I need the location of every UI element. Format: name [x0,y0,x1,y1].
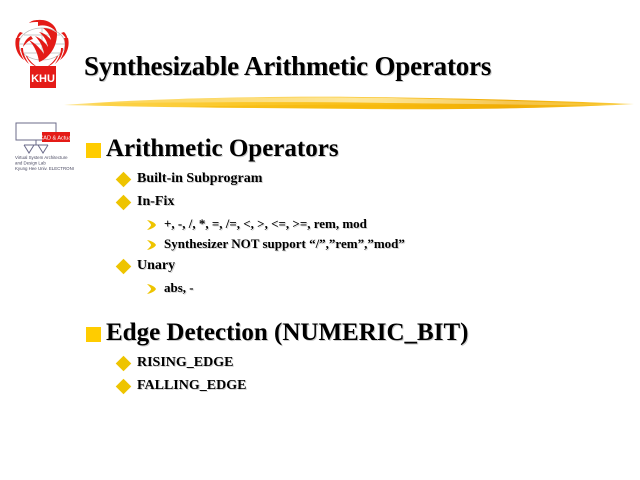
square-bullet-icon [86,143,101,158]
bullet-level2-rising-edge: RISING_EDGE [118,352,634,373]
svg-text:KHU: KHU [31,73,55,85]
level3-label: Synthesizer NOT support “/”,”rem”,”mod” [164,234,405,254]
lab-logo: CAD & Actual Virtual System Architecture… [12,120,74,172]
level1-label: Arithmetic Operators [106,134,339,164]
bullet-level1-edge-detection: Edge Detection (NUMERIC_BIT) [86,318,634,348]
bullet-level2-built-in-subprogram: Built-in Subprogram [118,168,634,189]
level3-label: abs, - [164,278,194,298]
bullet-level2-in-fix: In-Fix [118,191,634,212]
diamond-bullet-icon [116,194,132,210]
level2-label: Unary [137,255,175,276]
level2-label: FALLING_EDGE [137,375,246,396]
bullet-level3-operator-list: +, -, /, *, =, /=, <, >, <=, >=, rem, mo… [146,214,634,234]
level2-label: Built-in Subprogram [137,168,262,189]
lab-logo-caption-3: Kyung Hee Univ. ELECTRONICS [15,166,74,171]
lab-logo-badge-text: CAD & Actual [39,136,72,142]
bullet-level1-arithmetic-operators: Arithmetic Operators [86,134,634,164]
slide-body: Arithmetic Operators Built-in Subprogram… [86,134,634,398]
arrow-bullet-icon [146,219,157,231]
diamond-bullet-icon [116,258,132,274]
bullet-level3-unary-operators: abs, - [146,278,634,298]
khu-logo: KHU [8,18,76,90]
square-bullet-icon [86,327,101,342]
lab-logo-caption-1: Virtual System Architecture [15,155,68,160]
bullet-level3-synthesizer-note: Synthesizer NOT support “/”,”rem”,”mod” [146,234,634,254]
lab-logo-caption-2: and Design Lab [15,161,46,166]
level3-label: +, -, /, *, =, /=, <, >, <=, >=, rem, mo… [164,214,367,234]
bullet-level2-falling-edge: FALLING_EDGE [118,375,634,396]
level2-label: RISING_EDGE [137,352,233,373]
slide-title: Synthesizable Arithmetic Operators [84,52,624,80]
diamond-bullet-icon [116,171,132,187]
arrow-bullet-icon [146,283,157,295]
gold-brush-divider [62,92,636,114]
presentation-slide: KHU CAD & Actual Virtual System Architec… [0,0,640,480]
bullet-level2-unary: Unary [118,255,634,276]
level1-label: Edge Detection (NUMERIC_BIT) [106,318,468,348]
level2-label: In-Fix [137,191,174,212]
diamond-bullet-icon [116,378,132,394]
diamond-bullet-icon [116,355,132,371]
section-spacer [86,298,634,318]
arrow-bullet-icon [146,239,157,251]
